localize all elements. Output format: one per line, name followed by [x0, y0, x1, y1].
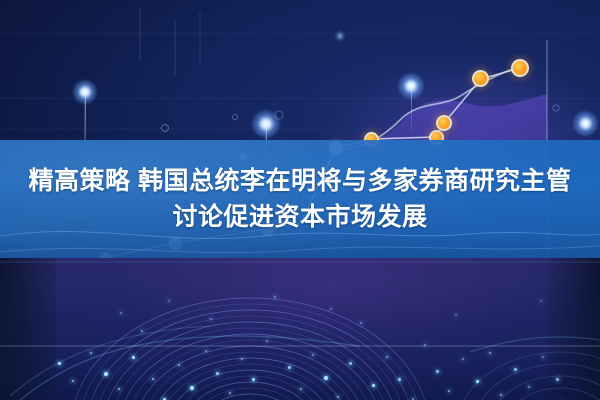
mesh-globe-graphic — [0, 0, 600, 400]
light-streak-c — [470, 337, 600, 352]
mesh-globe-lines — [10, 298, 600, 400]
banner-image: 精高策略 韩国总统李在明将与多家券商研究主管 讨论促进资本市场发展 — [0, 0, 600, 400]
